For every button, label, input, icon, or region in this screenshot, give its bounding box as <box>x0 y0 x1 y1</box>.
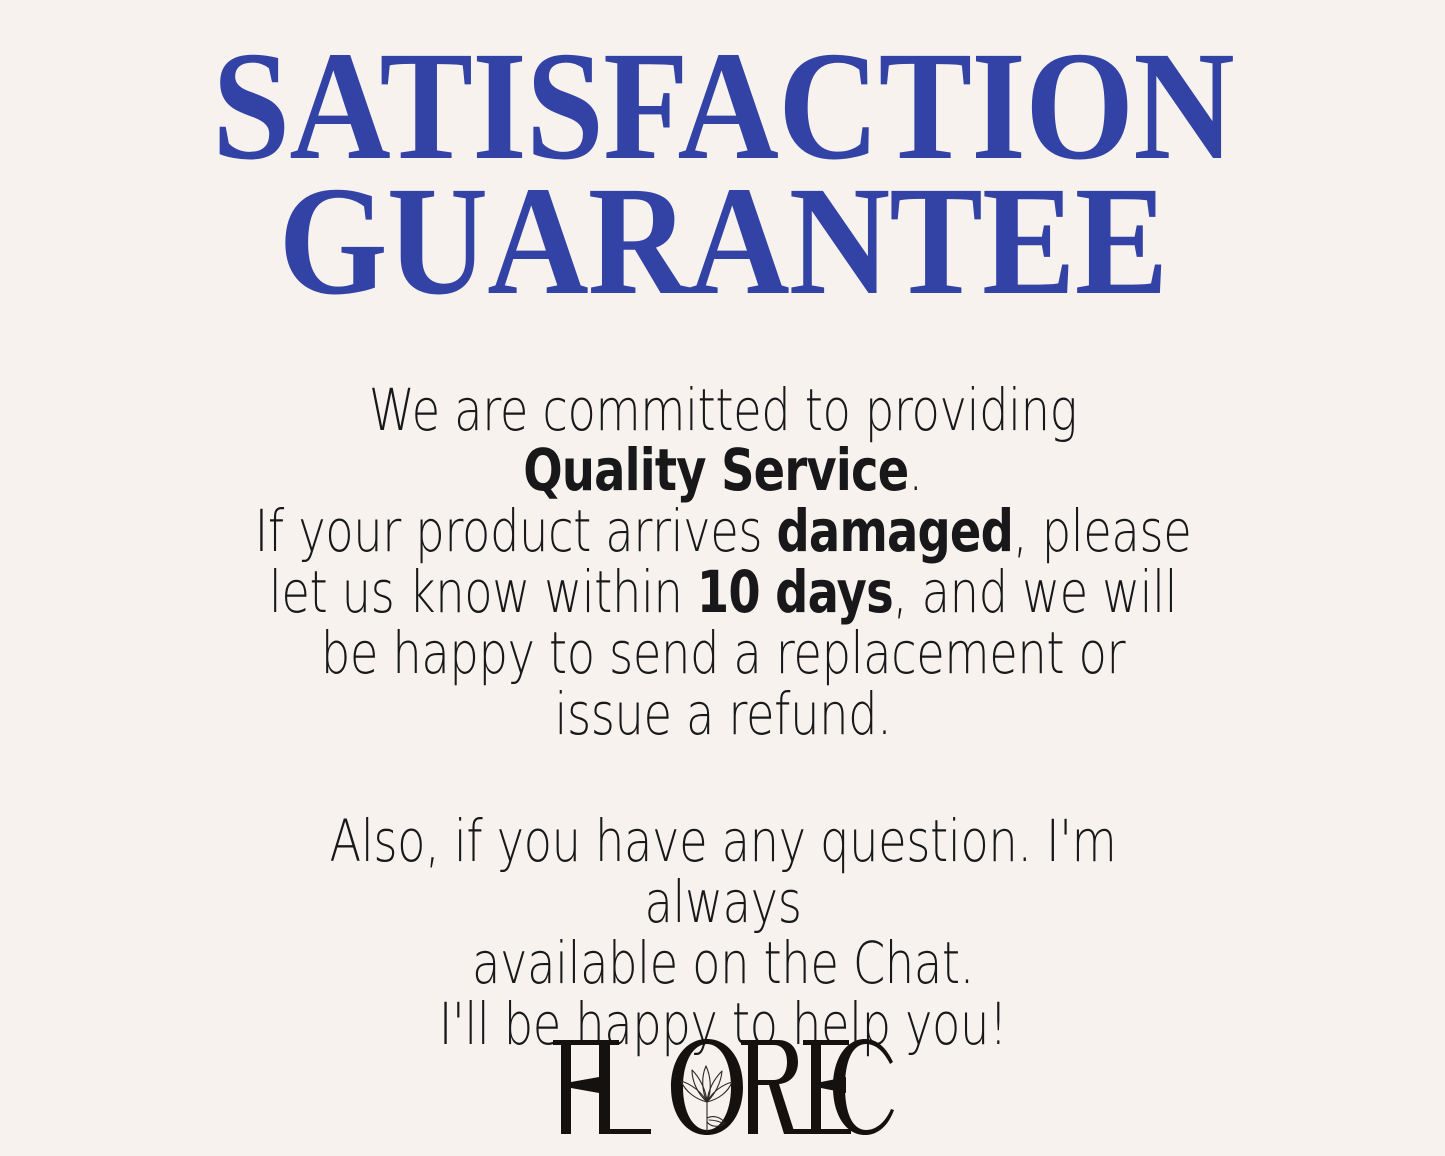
satisfaction-guarantee-card: SATISFACTION GUARANTEE We are committed … <box>0 0 1445 1156</box>
page-title-line-2: GUARANTEE <box>201 179 1245 304</box>
policy-line-1: We are committed to providing <box>219 380 1227 441</box>
ten-days-emphasis: 10 days <box>696 558 892 626</box>
paragraph-policy: We are committed to providing Quality Se… <box>219 380 1227 745</box>
support-line-3: available on the Chat. <box>219 933 1227 994</box>
brand-logo <box>0 1036 1445 1140</box>
quality-service-emphasis: Quality Service <box>523 436 908 504</box>
logo-letter-c <box>833 1039 894 1135</box>
policy-line-4-tail: , and we will <box>892 558 1176 626</box>
damaged-emphasis: damaged <box>776 497 1012 565</box>
policy-line-2-tail: . <box>908 436 922 504</box>
page-title-line-1: SATISFACTION <box>201 44 1245 169</box>
policy-line-5: be happy to send a replacement or <box>219 623 1227 684</box>
support-line-2: always <box>219 872 1227 933</box>
policy-line-3: If your product arrives damaged, please <box>219 501 1227 562</box>
florec-logo <box>543 1036 903 1140</box>
policy-line-4-lead: let us know within <box>268 558 696 626</box>
body-copy: We are committed to providing Quality Se… <box>219 380 1227 1055</box>
paragraph-support: Also, if you have any question. I'm alwa… <box>219 811 1227 1055</box>
support-line-1: Also, if you have any question. I'm <box>219 811 1227 872</box>
policy-line-3-lead: If your product arrives <box>254 497 776 565</box>
logo-letters-fl <box>553 1040 651 1134</box>
policy-line-2: Quality Service. <box>219 440 1227 501</box>
policy-line-6: issue a refund. <box>219 684 1227 745</box>
page-title: SATISFACTION GUARANTEE <box>201 44 1245 304</box>
policy-line-4: let us know within 10 days, and we will <box>219 562 1227 623</box>
policy-line-3-tail: , please <box>1013 497 1191 565</box>
